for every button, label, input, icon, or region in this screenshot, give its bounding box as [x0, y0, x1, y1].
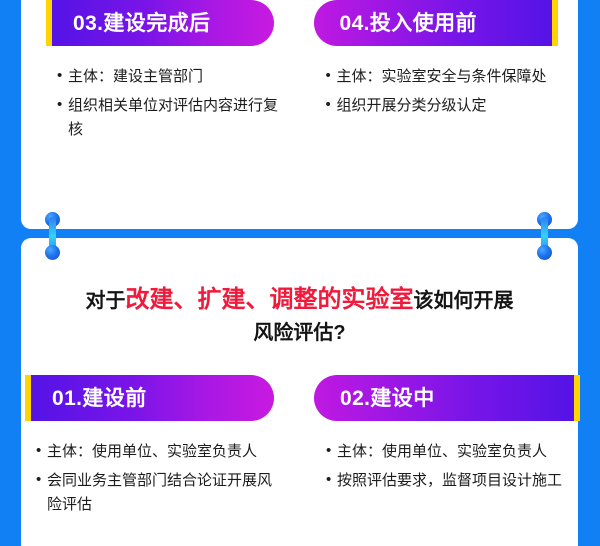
card-04-body: 主体：实验室安全与条件保障处 组织开展分类分级认定 [300, 46, 579, 118]
card-02-title: 02.建设中 [340, 388, 435, 409]
pin-knob-bottom-icon [45, 245, 60, 260]
question-line2: 风险评估? [21, 318, 578, 349]
infographic-page: 03.建设完成后 主体：建设主管部门 组织相关单位对评估内容进行复核 04.投入… [0, 0, 600, 546]
card-01-bullet-1: 主体：使用单位、实验室负责人 [36, 440, 282, 463]
card-02[interactable]: 02.建设中 主体：使用单位、实验室负责人 按照评估要求，监督项目设计施工 [300, 375, 600, 522]
question-highlight: 改建、扩建、调整的实验室 [126, 286, 414, 313]
panel-top: 03.建设完成后 主体：建设主管部门 组织相关单位对评估内容进行复核 04.投入… [21, 0, 578, 229]
card-01-header: 01.建设前 [25, 375, 274, 421]
card-04-header: 04.投入使用前 [314, 0, 559, 46]
card-04[interactable]: 04.投入使用前 主体：实验室安全与条件保障处 组织开展分类分级认定 [300, 0, 579, 147]
card-03-bullet-1: 主体：建设主管部门 [57, 65, 282, 88]
card-03[interactable]: 03.建设完成后 主体：建设主管部门 组织相关单位对评估内容进行复核 [21, 0, 300, 147]
card-02-body: 主体：使用单位、实验室负责人 按照评估要求，监督项目设计施工 [300, 421, 600, 493]
card-01-title: 01.建设前 [52, 388, 147, 409]
card-03-body: 主体：建设主管部门 组织相关单位对评估内容进行复核 [21, 46, 300, 141]
card-01-body: 主体：使用单位、实验室负责人 会同业务主管部门结合论证开展风险评估 [0, 421, 300, 516]
card-02-bullet-2: 按照评估要求，监督项目设计施工 [326, 469, 586, 492]
card-03-bullet-2: 组织相关单位对评估内容进行复核 [57, 94, 282, 141]
card-row-bottom: 01.建设前 主体：使用单位、实验室负责人 会同业务主管部门结合论证开展风险评估… [0, 375, 600, 522]
right-edge-stub [578, 224, 600, 238]
card-01-bullet-2: 会同业务主管部门结合论证开展风险评估 [36, 469, 282, 516]
pin-knob-bottom-icon [537, 245, 552, 260]
card-row-top: 03.建设完成后 主体：建设主管部门 组织相关单位对评估内容进行复核 04.投入… [21, 0, 578, 147]
connector-pin-left [45, 212, 60, 260]
card-01[interactable]: 01.建设前 主体：使用单位、实验室负责人 会同业务主管部门结合论证开展风险评估 [0, 375, 300, 522]
card-02-header: 02.建设中 [314, 375, 580, 421]
card-03-title: 03.建设完成后 [73, 13, 210, 34]
question-prefix: 对于 [86, 290, 126, 312]
connector-pin-right [537, 212, 552, 260]
card-04-title: 04.投入使用前 [340, 13, 477, 34]
card-02-bullet-1: 主体：使用单位、实验室负责人 [326, 440, 586, 463]
question-suffix: 该如何开展 [414, 290, 514, 312]
card-04-bullet-1: 主体：实验室安全与条件保障处 [326, 65, 565, 88]
card-04-bullet-2: 组织开展分类分级认定 [326, 94, 565, 117]
card-03-header: 03.建设完成后 [46, 0, 274, 46]
question-heading: 对于改建、扩建、调整的实验室该如何开展 风险评估? [21, 281, 578, 349]
